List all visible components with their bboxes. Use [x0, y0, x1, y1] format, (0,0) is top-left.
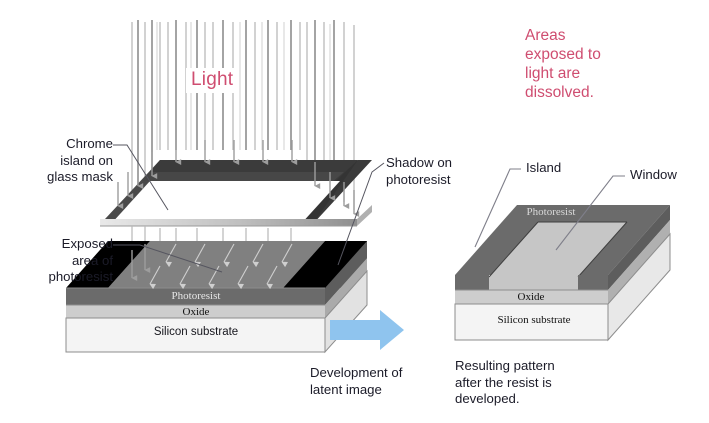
- window-label: Window: [630, 167, 677, 184]
- chrome-island-on-glass-mask-label: Chrome island on glass mask: [8, 136, 113, 186]
- left-silicon-substrate-label: Silicon substrate: [140, 326, 252, 338]
- glass-mask-plate: [100, 160, 372, 226]
- right-silicon-substrate-label: Silicon substrate: [478, 314, 590, 326]
- development-caption: Development of latent image: [310, 365, 450, 398]
- glass-plate-edge: [100, 219, 357, 226]
- resist-window-opening-face: [489, 277, 578, 290]
- resist-right-wall-face: [578, 275, 608, 290]
- right-oxide-layer-label: Oxide: [505, 291, 557, 303]
- lithography-diagram: Light Areas exposed to light are dissolv…: [0, 0, 709, 423]
- island-label: Island: [526, 160, 561, 177]
- exposed-area-of-photoresist-label: Exposed area of photoresist: [8, 236, 113, 286]
- mask-clear-window: [110, 181, 340, 225]
- light-label: Light: [186, 68, 238, 93]
- left-oxide-layer-label: Oxide: [170, 306, 222, 318]
- chrome-top-bar-shade: [142, 172, 348, 181]
- shadow-on-photoresist-label: Shadow on photoresist: [386, 155, 496, 188]
- resist-left-wall-face: [455, 275, 489, 290]
- left-photoresist-layer-label: Photoresist: [160, 290, 232, 302]
- resulting-pattern-caption: Resulting pattern after the resist is de…: [455, 358, 630, 408]
- chrome-top-bar: [150, 160, 358, 172]
- exposed-areas-note: Areas exposed to light are dissolved.: [525, 26, 601, 102]
- right-photoresist-layer-label: Photoresist: [515, 206, 587, 218]
